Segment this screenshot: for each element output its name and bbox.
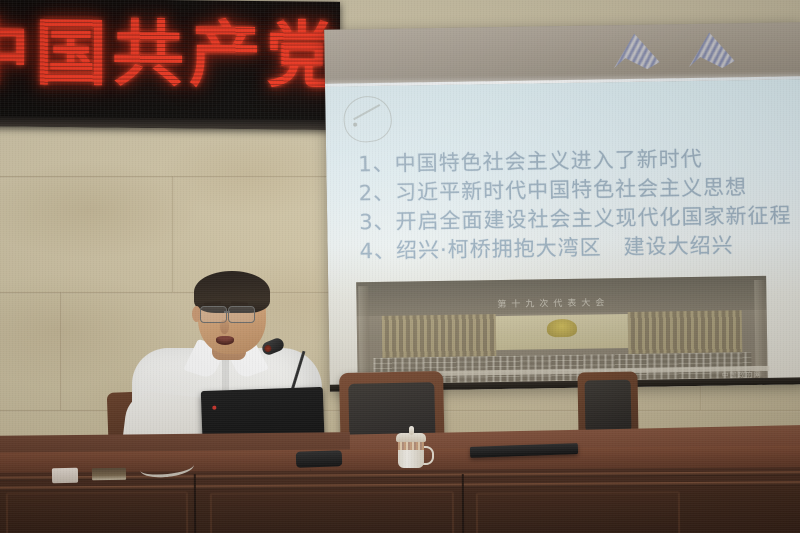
wall-tile-seam [60,292,62,410]
small-white-box [52,468,78,483]
desk-seam [462,474,464,533]
slide-line-4: 4、绍兴·柯桥拥抱大湾区 建设大绍兴 [359,230,799,266]
wall-tile-seam [172,176,174,292]
projection-top-band [324,22,800,86]
hall-side-pillar [754,280,766,376]
slide-content-area: 1、中国特色社会主义进入了新时代 2、习近平新时代中国特色社会主义思想 3、开启… [325,79,800,391]
presenter-nose [220,320,229,334]
slide-bullet-list: 1、中国特色社会主义进入了新时代 2、习近平新时代中国特色社会主义思想 3、开启… [358,143,800,266]
national-emblem-icon [547,319,577,337]
projection-screen: 1、中国特色社会主义进入了新时代 2、习近平新时代中国特色社会主义思想 3、开启… [324,22,800,391]
led-banner: 中国共产党 [0,0,340,130]
chair-cushion [585,380,632,433]
hall-curtain [381,314,496,358]
presenter-mouth [216,336,234,345]
eyeglasses-lens [228,306,255,323]
desk-inset-panel [210,491,454,533]
thinkpad-logo-dot-icon [212,406,216,410]
teacup-lid-knob [409,426,414,435]
conference-room-photo: 中国共产党 1、中国特色社会主义进入了新时代 2、习近平新时代中国特色社会主义思… [0,0,800,533]
desk-inset-panel [6,491,188,533]
teacup-painted-band [398,442,424,450]
small-notebook [92,468,126,481]
blue-ribbon-mark-icon [609,32,662,71]
hall-curtain [627,310,742,354]
desk-inset-panel [476,491,680,533]
hall-side-pillar [358,286,370,382]
blue-ribbon-mark-icon [684,31,737,70]
eyeglasses-bridge [224,311,230,313]
circular-outline-logo-icon [341,93,394,144]
hall-banner-text: 第十九次代表大会 [497,295,609,310]
led-banner-text: 中国共产党 [0,14,340,94]
logo-dot-icon [353,122,357,126]
desk-seam [194,474,196,533]
lidded-ceramic-teacup [396,426,428,468]
